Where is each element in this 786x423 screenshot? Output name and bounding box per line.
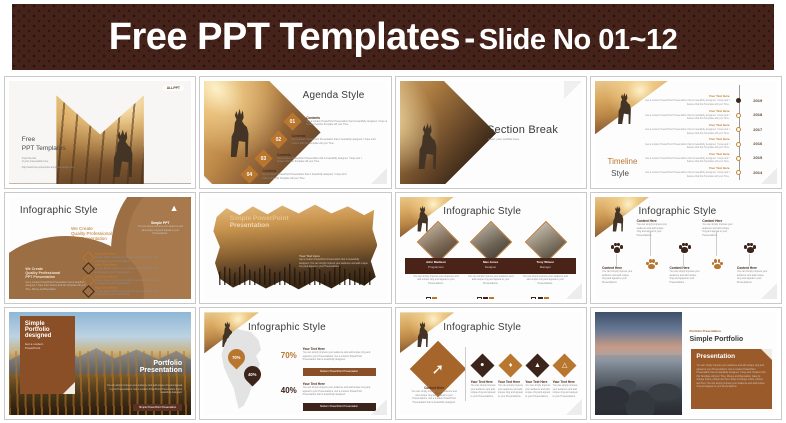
panel-sub-2: PowerPoint xyxy=(25,346,75,350)
slide-10-title: Infographic Style xyxy=(248,322,326,333)
slide-06-title-block: Simple PowerPoint Presentation xyxy=(230,215,289,229)
timeline-year: 2016 xyxy=(753,141,762,146)
slide-05-title: Infographic Style xyxy=(20,205,98,216)
slide-thumbnail-10[interactable]: Infographic Style 70% 40% 70% Your Text … xyxy=(199,307,391,420)
stat-percent: 70% xyxy=(281,351,297,360)
timeline-body: Get a modern PowerPoint Presentation tha… xyxy=(642,171,729,178)
slide-thumbnail-grid: Free PPT Templates Insert the title of y… xyxy=(4,76,782,420)
arc-body: You can simply impress your audience and… xyxy=(137,225,184,235)
forest-photo xyxy=(400,81,497,184)
corner-fold-decoration xyxy=(564,81,582,99)
slide-09-button[interactable]: Simple PowerPoint Presentation xyxy=(133,404,182,411)
headline-2: Presentation xyxy=(140,367,182,374)
slide-08-title: Infographic Style xyxy=(638,206,716,217)
slide-01-title-line1: Free xyxy=(22,136,74,145)
slide-11-canvas: Infographic Style ➚ Content Here You can… xyxy=(400,312,582,415)
slide-thumbnail-07[interactable]: Infographic Style John Madison Programme… xyxy=(395,192,587,305)
slide-thumbnail-01[interactable]: Free PPT Templates Insert the title of y… xyxy=(4,76,196,189)
slide-09-headline: Portfolio Presentation xyxy=(140,360,182,374)
timeline-year: 2017 xyxy=(753,127,762,132)
agenda-item[interactable]: 03 Contents Get a modern PowerPoint Pres… xyxy=(257,152,363,165)
slide-02-canvas: Agenda Style 01 Contents Get a modern Po… xyxy=(204,81,386,184)
slide-12-panel: Presentation You can simply impress your… xyxy=(691,349,771,409)
member-body: You can simply impress your audience and… xyxy=(522,275,569,285)
agenda-item[interactable]: 04 Contents Get a modern PowerPoint Pres… xyxy=(243,168,349,181)
headline-1: Portfolio xyxy=(140,360,182,367)
bullet-item[interactable]: Your Text Here You can simply impress yo… xyxy=(95,252,161,263)
bullet-item[interactable]: Your Text Here You can simply impress yo… xyxy=(95,286,161,297)
item-text: Your Text Here You can simply impress yo… xyxy=(525,380,551,398)
paw-icon xyxy=(679,242,691,254)
slide-11-title: Infographic Style xyxy=(443,322,521,333)
connector-line xyxy=(616,254,617,266)
item-body: You can simply impress your audience and… xyxy=(471,384,497,398)
connector-line xyxy=(749,254,750,266)
stat-button[interactable]: Modern PowerPoint Presentation xyxy=(303,403,376,411)
timeline-heading: Your Text Here xyxy=(642,123,729,127)
social-icons[interactable] xyxy=(476,289,495,299)
panel-line-3: designed xyxy=(25,333,75,339)
member-role: Designer xyxy=(465,265,516,269)
agenda-body: Get a modern PowerPoint Presentation tha… xyxy=(306,120,386,127)
paw-node[interactable]: Content Here You can simply impress your… xyxy=(602,266,633,284)
panel-body: You can simply impress your audience and… xyxy=(691,360,771,388)
bullet-body: You can simply impress your audience and… xyxy=(95,279,161,286)
slide-12-canvas: Portfolio Presentation Simple Portfolio … xyxy=(595,312,777,415)
slide-01-text-block: Free PPT Templates Insert the title of y… xyxy=(22,136,74,169)
banner-title-sub: Slide No 01~12 xyxy=(479,24,678,56)
paw-icon: ● xyxy=(471,354,495,378)
item-body: You can simply impress your audience and… xyxy=(498,384,524,398)
deer-head-icon: ▲ xyxy=(170,203,179,213)
node-body: You can simply impress your audience and… xyxy=(637,223,668,237)
member-name: John Madison xyxy=(410,260,461,264)
mountain-icon: △ xyxy=(553,354,577,378)
item-text: Your Text Here You can simply impress yo… xyxy=(553,380,579,398)
panel-title: Presentation xyxy=(691,349,771,360)
corner-fold-decoration xyxy=(761,283,777,299)
timeline-dot xyxy=(736,113,741,118)
item-text: Your Text Here You can simply impress yo… xyxy=(471,380,497,398)
timeline-heading: Your Text Here xyxy=(642,166,729,170)
timeline-body: Get a modern PowerPoint Presentation tha… xyxy=(642,143,729,150)
tagline-3: PPT Presentation xyxy=(71,236,112,241)
bullet-body: You can simply impress your audience and… xyxy=(95,267,161,274)
slide-01-sub2: of your presentation here xyxy=(22,160,74,163)
slide-04-canvas: 2019 Your Text Here Get a modern PowerPo… xyxy=(595,81,777,184)
corner-fold-decoration xyxy=(761,168,777,184)
slide-06-body: Get a modern PowerPoint Presentation tha… xyxy=(299,258,368,268)
slide-thumbnail-04[interactable]: 2019 Your Text Here Get a modern PowerPo… xyxy=(590,76,782,189)
rocks-texture xyxy=(595,355,682,415)
slide-12-eyebrow: Portfolio Presentation xyxy=(690,329,721,333)
social-icon[interactable] xyxy=(544,297,549,299)
member-name: Tony Wilson xyxy=(520,260,571,264)
banner-title-main: Free PPT Templates xyxy=(109,16,460,58)
slide-06-canvas: Simple PowerPoint Presentation Your Text… xyxy=(204,197,386,300)
item-body: You can simply impress your audience and… xyxy=(553,384,579,398)
bullet-item[interactable]: Your Text Here You can simply impress yo… xyxy=(95,263,161,274)
slide-10-canvas: Infographic Style 70% 40% 70% Your Text … xyxy=(204,312,386,415)
paw-node[interactable]: Content Here You can simply impress your… xyxy=(702,219,733,237)
hill-body: Get a modern PowerPoint Presentation tha… xyxy=(25,281,91,291)
agenda-body: Get a modern PowerPoint Presentation tha… xyxy=(292,138,378,145)
slide-05-canvas: Simple PPT You can simply impress your a… xyxy=(9,197,191,300)
connector-line xyxy=(683,254,684,266)
slide-thumbnail-08[interactable]: Infographic Style Content Here xyxy=(590,192,782,305)
tagline-block: We Create Quality Professional PPT Prese… xyxy=(71,226,112,241)
slide-thumbnail-03[interactable]: Section Break Insert your subtitle here xyxy=(395,76,587,189)
slide-09-body: You can simply impress your audience and… xyxy=(106,384,183,394)
item-text: Your Text Here You can simply impress yo… xyxy=(498,380,524,398)
social-icons[interactable] xyxy=(425,289,437,299)
slide-thumbnail-06[interactable]: Simple PowerPoint Presentation Your Text… xyxy=(199,192,391,305)
timeline-body: Get a modern PowerPoint Presentation tha… xyxy=(642,99,729,106)
paw-icon xyxy=(646,258,658,270)
paw-icon xyxy=(611,242,623,254)
slide-thumbnail-12[interactable]: Portfolio Presentation Simple Portfolio … xyxy=(590,307,782,420)
coast-photo xyxy=(595,312,682,415)
paw-node[interactable]: Content Here You can simply impress your… xyxy=(637,219,668,237)
timeline-dot xyxy=(736,127,741,132)
hill-tagline-3: PPT Presentation xyxy=(25,275,91,279)
slide-06-title-line1: Simple PowerPoint xyxy=(230,215,289,222)
banner-title-dash: - xyxy=(460,19,479,56)
member-role: Manager xyxy=(520,265,571,269)
timeline-heading: Your Text Here xyxy=(642,94,729,98)
timeline-body: Get a modern PowerPoint Presentation tha… xyxy=(642,114,729,121)
timeline-dot xyxy=(736,98,741,103)
bullet-body: You can simply impress your audience and… xyxy=(95,256,161,263)
paw-node[interactable]: Content Here You can simply impress your… xyxy=(669,266,700,284)
agenda-number-badge: 02 xyxy=(269,131,287,149)
stat-percent: 40% xyxy=(281,386,297,395)
member-body: You can simply impress your audience and… xyxy=(412,275,459,285)
agenda-item[interactable]: 02 Contents Get a modern PowerPoint Pres… xyxy=(272,133,378,146)
slide-03-subtitle: Insert your subtitle here xyxy=(488,137,519,141)
slide-01-title-line2: PPT Templates xyxy=(22,145,74,154)
timeline-year: 2018 xyxy=(753,112,762,117)
agenda-number-badge: 01 xyxy=(284,112,302,130)
member-body: You can simply impress your audience and… xyxy=(467,275,514,285)
corner-fold-decoration xyxy=(371,168,387,184)
timeline-heading: Your Text Here xyxy=(642,152,729,156)
member-role: Programmer xyxy=(410,265,461,269)
feature-text: Content Here You can simply impress your… xyxy=(410,386,457,404)
timeline-year: 2019 xyxy=(753,98,762,103)
panel-corner-fold xyxy=(761,349,772,360)
agenda-number-badge: 03 xyxy=(254,149,272,167)
agenda-body: Get a modern PowerPoint Presentation tha… xyxy=(263,173,349,180)
panel-corner-fold xyxy=(63,382,75,394)
stat-body: You can simply impress your audience and… xyxy=(303,386,376,396)
corner-fold-decoration xyxy=(566,283,582,299)
paw-icon xyxy=(744,242,756,254)
feature-body: You can simply impress your audience and… xyxy=(410,390,457,404)
slide-04-title-line1: Timeline xyxy=(608,157,638,166)
bullet-body: You can simply impress your audience and… xyxy=(95,290,161,297)
agenda-item[interactable]: 01 Contents Get a modern PowerPoint Pres… xyxy=(286,115,386,128)
stat-button[interactable]: Modern PowerPoint Presentation xyxy=(303,368,376,376)
social-icon[interactable] xyxy=(531,297,536,299)
acorn-icon: ▲ xyxy=(525,354,549,378)
timeline-dot xyxy=(736,156,741,161)
slide-thumbnail-05[interactable]: Simple PPT You can simply impress your a… xyxy=(4,192,196,305)
slide-06-body-block: Your Text Here Get a modern PowerPoint P… xyxy=(299,254,368,268)
timeline-heading: Your Text Here xyxy=(642,137,729,141)
bullet-item[interactable]: Your Text Here You can simply impress yo… xyxy=(95,275,161,286)
social-icon[interactable] xyxy=(477,297,482,299)
timeline-body: Get a modern PowerPoint Presentation tha… xyxy=(642,157,729,164)
item-body: You can simply impress your audience and… xyxy=(525,384,551,398)
timeline-body: Get a modern PowerPoint Presentation tha… xyxy=(642,128,729,135)
timeline-heading: Your Text Here xyxy=(642,109,729,113)
slide-thumbnail-02[interactable]: Agenda Style 01 Contents Get a modern Po… xyxy=(199,76,391,189)
slide-12-title: Simple Portfolio xyxy=(690,336,744,343)
node-body: You can simply impress your audience and… xyxy=(669,270,700,284)
paw-icon xyxy=(711,258,723,270)
banner-title: Free PPT Templates-Slide No 01~12 xyxy=(109,16,677,59)
member-name: Max Jones xyxy=(465,260,516,264)
stat-row[interactable]: Your Text Here You can simply impress yo… xyxy=(303,382,376,396)
slide-09-canvas: Simple Portfolio designed Get a modern P… xyxy=(9,312,191,415)
slide-03-canvas: Section Break Insert your subtitle here xyxy=(400,81,582,184)
timeline-year: 2015 xyxy=(753,155,762,160)
slide-06-title-line2: Presentation xyxy=(230,222,289,229)
paw-node[interactable]: Content Here You can simply impress your… xyxy=(737,266,768,284)
node-body: You can simply impress your audience and… xyxy=(602,270,633,284)
slide-07-canvas: Infographic Style John Madison Programme… xyxy=(400,197,582,300)
social-icons[interactable] xyxy=(531,289,550,299)
portfolio-panel: Simple Portfolio designed Get a modern P… xyxy=(20,316,75,394)
slide-03-title: Section Break xyxy=(487,124,558,136)
slide-01-canvas: Free PPT Templates Insert the title of y… xyxy=(9,81,191,184)
stat-body: You can simply impress your audience and… xyxy=(303,351,376,361)
social-icon[interactable] xyxy=(538,297,543,299)
corner-fold-decoration xyxy=(371,399,387,415)
timeline-dot xyxy=(736,142,741,147)
agenda-body: Get a modern PowerPoint Presentation tha… xyxy=(277,157,363,164)
node-body: You can simply impress your audience and… xyxy=(702,223,733,237)
slide-01-url: http://www.free-powerpoint-templates-des… xyxy=(22,166,74,169)
allppt-logo-badge: ALLPPT xyxy=(163,85,184,91)
social-icon[interactable] xyxy=(483,297,488,299)
arc-text-block: Simple PPT You can simply impress your a… xyxy=(137,221,184,235)
timeline-dot xyxy=(736,170,741,175)
slide-thumbnail-09[interactable]: Simple Portfolio designed Get a modern P… xyxy=(4,307,196,420)
node-body: You can simply impress your audience and… xyxy=(737,270,768,284)
social-icon[interactable] xyxy=(489,297,494,299)
social-icon[interactable] xyxy=(426,297,431,299)
divider-line xyxy=(465,347,466,400)
slide-02-title: Agenda Style xyxy=(303,90,365,101)
slide-08-canvas: Infographic Style Content Here xyxy=(595,197,777,300)
social-icon[interactable] xyxy=(432,297,437,299)
header-banner: Free PPT Templates-Slide No 01~12 xyxy=(12,4,774,70)
stat-row[interactable]: Your Text Here You can simply impress yo… xyxy=(303,347,376,361)
corner-fold-decoration xyxy=(566,399,582,415)
agenda-number-badge: 04 xyxy=(240,166,258,184)
leaf-icon: ♦ xyxy=(498,354,522,378)
slide-07-title: Infographic Style xyxy=(443,206,521,217)
slide-04-title-line2: Style xyxy=(611,169,629,178)
slide-thumbnail-11[interactable]: Infographic Style ➚ Content Here You can… xyxy=(395,307,587,420)
hill-text-block: We Create Quality Professional PPT Prese… xyxy=(25,267,91,291)
